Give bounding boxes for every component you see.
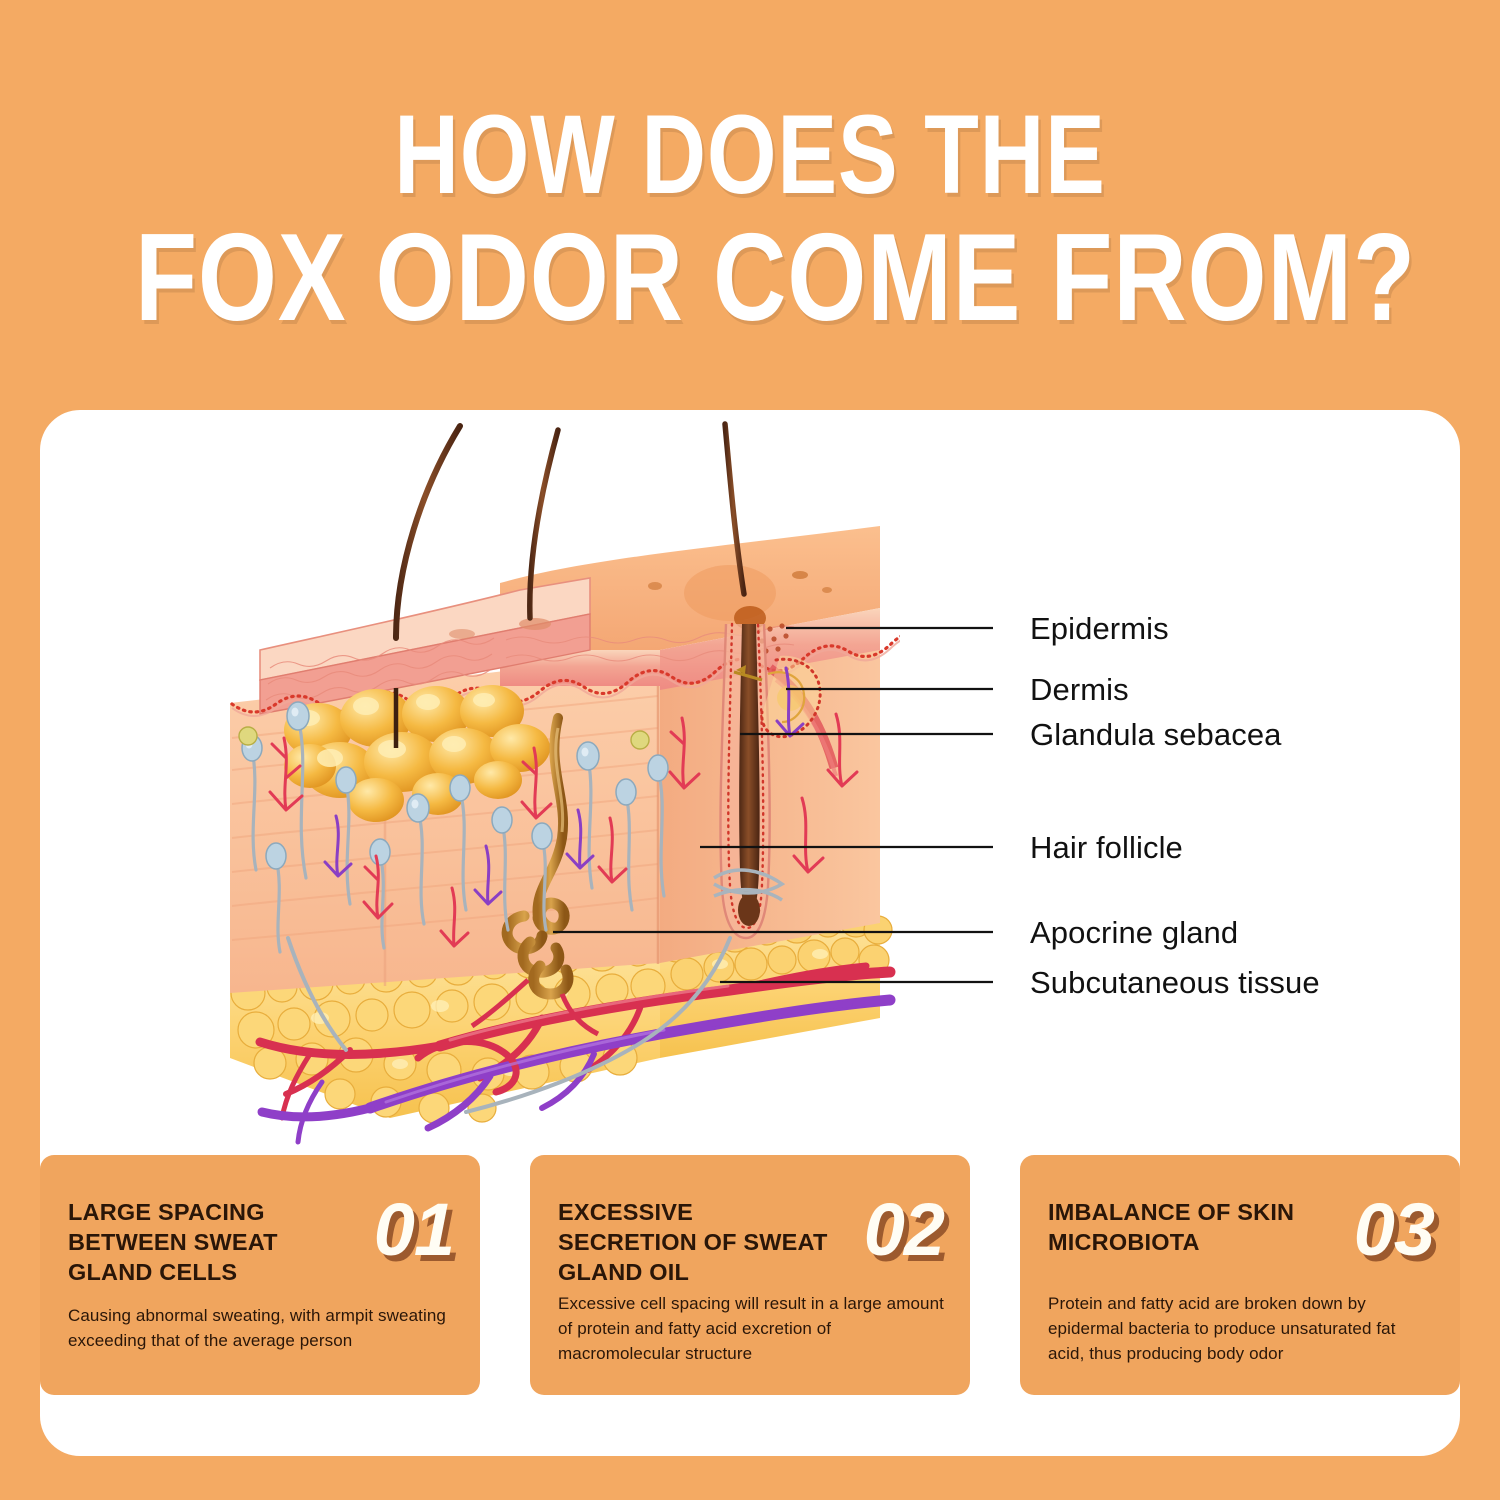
infographic-page: HOW DOES THE FOX ODOR COME FROM? — [0, 0, 1500, 1500]
card-1-body: Causing abnormal sweating, with armpit s… — [68, 1303, 456, 1353]
cause-card-1[interactable]: LARGE SPACING BETWEEN SWEAT GLAND CELLS … — [40, 1155, 480, 1395]
card-3-number: 03 — [1354, 1193, 1434, 1267]
page-title: HOW DOES THE FOX ODOR COME FROM? — [0, 96, 1500, 342]
card-3-title: IMBALANCE OF SKIN MICROBIOTA — [1048, 1197, 1316, 1257]
cause-cards: LARGE SPACING BETWEEN SWEAT GLAND CELLS … — [40, 1155, 1460, 1415]
card-1-number: 01 — [374, 1193, 454, 1267]
skin-cross-section-diagram — [190, 418, 900, 1148]
label-dermis: Dermis — [1030, 674, 1129, 705]
card-3-head: IMBALANCE OF SKIN MICROBIOTA 03 — [1048, 1197, 1434, 1267]
label-epidermis: Epidermis — [1030, 613, 1169, 644]
card-2-body: Excessive cell spacing will result in a … — [558, 1291, 946, 1366]
card-1-title: LARGE SPACING BETWEEN SWEAT GLAND CELLS — [68, 1197, 330, 1287]
card-3-body: Protein and fatty acid are broken down b… — [1048, 1291, 1436, 1366]
label-hair-follicle: Hair follicle — [1030, 832, 1183, 863]
label-subcutaneous-tissue: Subcutaneous tissue — [1030, 967, 1320, 998]
title-line-1: HOW DOES THE — [150, 96, 1350, 214]
card-2-title: EXCESSIVE SECRETION OF SWEAT GLAND OIL — [558, 1197, 834, 1287]
label-glandula-sebacea: Glandula sebacea — [1030, 719, 1282, 750]
card-2-number: 02 — [864, 1193, 944, 1267]
label-apocrine-gland: Apocrine gland — [1030, 917, 1238, 948]
cause-card-3[interactable]: IMBALANCE OF SKIN MICROBIOTA 03 Protein … — [1020, 1155, 1460, 1395]
cause-card-2[interactable]: EXCESSIVE SECRETION OF SWEAT GLAND OIL 0… — [530, 1155, 970, 1395]
card-1-head: LARGE SPACING BETWEEN SWEAT GLAND CELLS … — [68, 1197, 454, 1287]
card-2-head: EXCESSIVE SECRETION OF SWEAT GLAND OIL 0… — [558, 1197, 944, 1287]
title-line-2: FOX ODOR COME FROM? — [135, 214, 1365, 342]
